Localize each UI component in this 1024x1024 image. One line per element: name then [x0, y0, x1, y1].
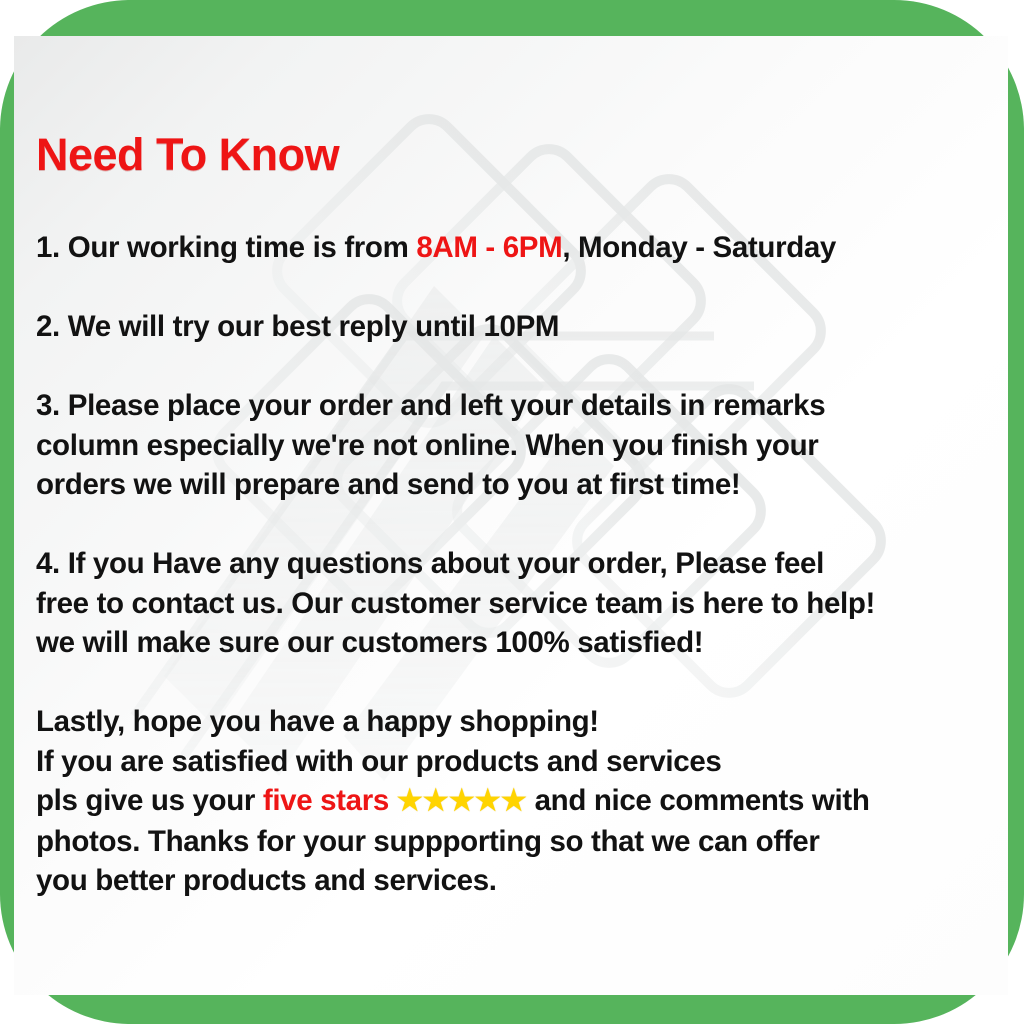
- text-segment: pls give us your: [36, 784, 263, 817]
- paragraph-working-hours: 1. Our working time is from 8AM - 6PM, M…: [36, 228, 992, 268]
- text-segment: 2. We will try our best reply until 10PM: [36, 310, 559, 343]
- text-segment-highlight: five stars: [263, 784, 389, 817]
- text-segment: column especially we're not online. When…: [36, 429, 818, 462]
- text-line: you better products and services.: [36, 861, 992, 901]
- text-segment: Lastly, hope you have a happy shopping!: [36, 705, 599, 738]
- text-segment: orders we will prepare and send to you a…: [36, 468, 740, 501]
- text-line: photos. Thanks for your suppporting so t…: [36, 822, 992, 862]
- page-title: Need To Know: [36, 132, 339, 177]
- text-line: 2. We will try our best reply until 10PM: [36, 307, 992, 347]
- text-line: Lastly, hope you have a happy shopping!: [36, 702, 992, 742]
- text-segment: we will make sure our customers 100% sat…: [36, 626, 703, 659]
- text-line: 4. If you Have any questions about your …: [36, 544, 992, 584]
- content-card: Need To Know 1. Our working time is from…: [14, 36, 1008, 995]
- text-line: column especially we're not online. When…: [36, 426, 992, 466]
- five-stars-icon: ★★★★★: [397, 785, 527, 817]
- paragraph-closing-request: Lastly, hope you have a happy shopping! …: [36, 702, 992, 901]
- text-line: 3. Please place your order and left your…: [36, 386, 992, 426]
- text-segment: you better products and services.: [36, 864, 497, 897]
- text-segment: and nice comments with: [527, 784, 870, 817]
- paragraph-order-remarks: 3. Please place your order and left your…: [36, 386, 992, 505]
- text-line: 1. Our working time is from 8AM - 6PM, M…: [36, 228, 992, 268]
- poster-root: Need To Know 1. Our working time is from…: [0, 0, 1024, 1024]
- text-segment-highlight: 8AM - 6PM: [416, 231, 562, 264]
- text-segment: free to contact us. Our customer service…: [36, 587, 875, 620]
- text-segment: photos. Thanks for your suppporting so t…: [36, 825, 819, 858]
- text-segment: , Monday - Saturday: [562, 231, 836, 264]
- text-segment: [389, 784, 397, 817]
- paragraph-customer-service: 4. If you Have any questions about your …: [36, 544, 992, 663]
- text-line: we will make sure our customers 100% sat…: [36, 623, 992, 663]
- paragraph-reply-time: 2. We will try our best reply until 10PM: [36, 307, 992, 347]
- text-line: pls give us your five stars ★★★★★ and ni…: [36, 781, 992, 822]
- poster-content: Need To Know 1. Our working time is from…: [22, 36, 1008, 995]
- text-line: free to contact us. Our customer service…: [36, 584, 992, 624]
- text-segment: 4. If you Have any questions about your …: [36, 547, 824, 580]
- text-segment: If you are satisfied with our products a…: [36, 745, 721, 778]
- text-line: If you are satisfied with our products a…: [36, 742, 992, 782]
- text-segment: 1. Our working time is from: [36, 231, 416, 264]
- text-line: orders we will prepare and send to you a…: [36, 465, 992, 505]
- text-segment: 3. Please place your order and left your…: [36, 389, 825, 422]
